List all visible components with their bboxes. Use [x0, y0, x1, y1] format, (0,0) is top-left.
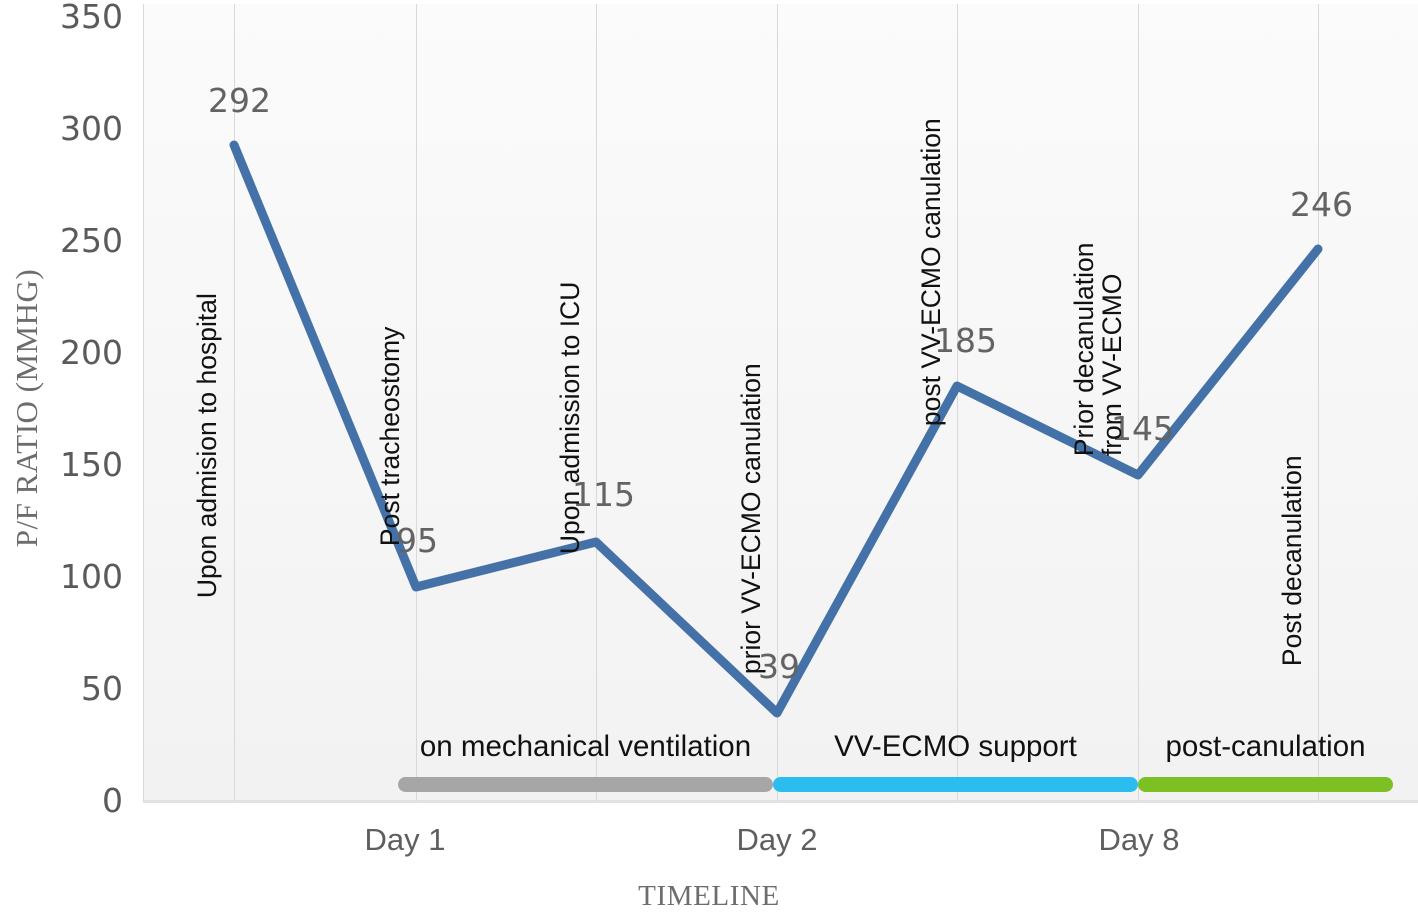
- pf-ratio-timeline-chart: 350 300 250 200 150 100 50 0 P/F RATIO (…: [0, 0, 1418, 921]
- phase-bar-vv-ecmo-support: [773, 777, 1138, 792]
- phase-label-post-canulation: post-canulation: [1138, 730, 1393, 764]
- phase-bar-on-mechanical-ventilation: [398, 777, 773, 792]
- phase-bar-post-canulation: [1138, 777, 1393, 792]
- annotation-post-vv-ecmo-canulation: post VV-ECMO canulation: [917, 118, 945, 426]
- annotation-post-tracheostomy: Post tracheostomy: [376, 327, 404, 546]
- value-label-246: 246: [1290, 188, 1353, 221]
- x-tick-day-8: Day 8: [1019, 822, 1259, 858]
- annotation-prior-decanulation-from-vv-ecmo: Prior decanulation from VV-ECMO: [1070, 243, 1126, 457]
- annotation-prior-vv-ecmo-canulation: prior VV-ECMO canulation: [737, 363, 765, 674]
- value-label-292: 292: [208, 84, 271, 117]
- annotation-upon-admision-to-hospital: Upon admision to hospital: [193, 293, 221, 598]
- annotation-upon-admission-to-icu: Upon admission to ICU: [556, 282, 584, 554]
- x-axis-title: TIMELINE: [0, 880, 1418, 913]
- x-tick-day-2: Day 2: [657, 822, 897, 858]
- annotation-post-decanulation: Post decanulation: [1278, 455, 1306, 666]
- phase-label-vv-ecmo-support: VV-ECMO support: [773, 730, 1138, 764]
- x-tick-day-1: Day 1: [285, 822, 525, 858]
- phase-label-on-mechanical-ventilation: on mechanical ventilation: [398, 730, 773, 764]
